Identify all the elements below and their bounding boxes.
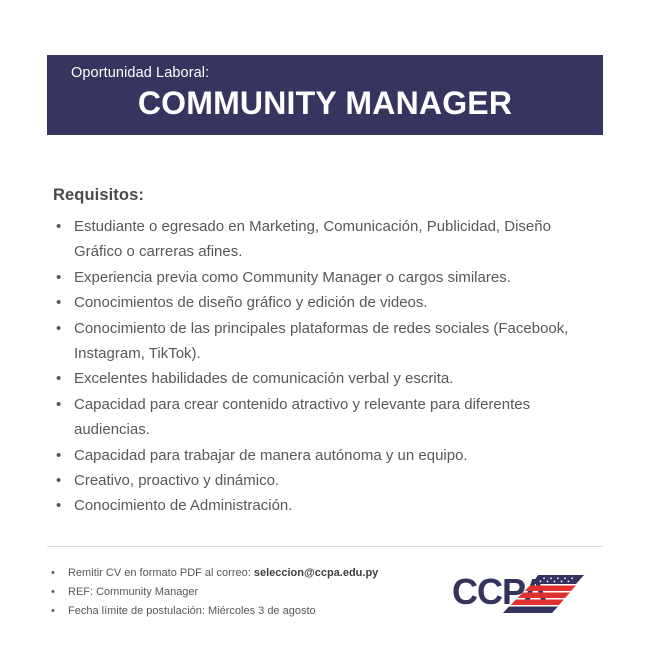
footer-item-prefix: Remitir CV en formato PDF al correo: bbox=[68, 567, 254, 579]
list-item: • Experiencia previa como Community Mana… bbox=[53, 265, 598, 290]
list-item-label: Experiencia previa como Community Manage… bbox=[74, 269, 511, 286]
bullet-icon: • bbox=[56, 366, 61, 391]
ccpa-logo: CCPA bbox=[452, 570, 604, 616]
list-item: • Capacidad para crear contenido atracti… bbox=[53, 392, 598, 443]
footer-item-prefix: REF: Community Manager bbox=[68, 586, 198, 598]
ccpa-logo-svg: CCPA bbox=[452, 570, 604, 616]
list-item: • Conocimiento de las principales plataf… bbox=[53, 316, 598, 367]
list-item: • Creativo, proactivo y dinámico. bbox=[53, 468, 598, 493]
list-item: • Conocimientos de diseño gráfico y edic… bbox=[53, 290, 598, 315]
list-item-label: Conocimiento de Administración. bbox=[74, 497, 292, 514]
list-item-label: Estudiante o egresado en Marketing, Comu… bbox=[74, 218, 551, 260]
list-item: • Capacidad para trabajar de manera autó… bbox=[53, 443, 598, 468]
bullet-icon: • bbox=[56, 290, 61, 315]
bullet-icon: • bbox=[51, 583, 55, 602]
list-item-label: Creativo, proactivo y dinámico. bbox=[74, 472, 279, 489]
list-item: • Fecha límite de postulación: Miércoles… bbox=[47, 602, 447, 621]
job-title: COMMUNITY MANAGER bbox=[47, 86, 603, 122]
bullet-icon: • bbox=[51, 564, 55, 583]
list-item-label: Capacidad para crear contenido atractivo… bbox=[74, 396, 530, 438]
bullet-icon: • bbox=[56, 468, 61, 493]
bullet-icon: • bbox=[56, 214, 61, 239]
bullet-icon: • bbox=[56, 493, 61, 518]
list-item-label: Conocimientos de diseño gráfico y edició… bbox=[74, 294, 428, 311]
contact-email: seleccion@ccpa.edu.py bbox=[254, 567, 378, 579]
bullet-icon: • bbox=[56, 443, 61, 468]
ccpa-wordmark: CCPA bbox=[452, 571, 548, 612]
list-item: • Excelentes habilidades de comunicación… bbox=[53, 366, 598, 391]
footer-item-prefix: Fecha límite de postulación: Miércoles 3… bbox=[68, 605, 316, 617]
bullet-icon: • bbox=[56, 265, 61, 290]
list-item-label: Conocimiento de las principales platafor… bbox=[74, 320, 568, 362]
list-item: • Estudiante o egresado en Marketing, Co… bbox=[53, 214, 598, 265]
list-item: • Conocimiento de Administración. bbox=[53, 493, 598, 518]
requirements-heading: Requisitos: bbox=[53, 186, 144, 205]
footer-list: • Remitir CV en formato PDF al correo: s… bbox=[47, 564, 447, 621]
banner-eyebrow: Oportunidad Laboral: bbox=[47, 64, 603, 82]
list-item: • Remitir CV en formato PDF al correo: s… bbox=[47, 564, 447, 583]
requirements-list: • Estudiante o egresado en Marketing, Co… bbox=[53, 214, 598, 519]
list-item-label: Excelentes habilidades de comunicación v… bbox=[74, 370, 453, 387]
job-posting-poster: Oportunidad Laboral: COMMUNITY MANAGER R… bbox=[0, 0, 650, 652]
list-item-label: Capacidad para trabajar de manera autóno… bbox=[74, 447, 468, 464]
bullet-icon: • bbox=[56, 316, 61, 341]
bullet-icon: • bbox=[56, 392, 61, 417]
bullet-icon: • bbox=[51, 602, 55, 621]
divider bbox=[47, 546, 603, 547]
list-item: • REF: Community Manager bbox=[47, 583, 447, 602]
header-banner: Oportunidad Laboral: COMMUNITY MANAGER bbox=[47, 55, 603, 135]
